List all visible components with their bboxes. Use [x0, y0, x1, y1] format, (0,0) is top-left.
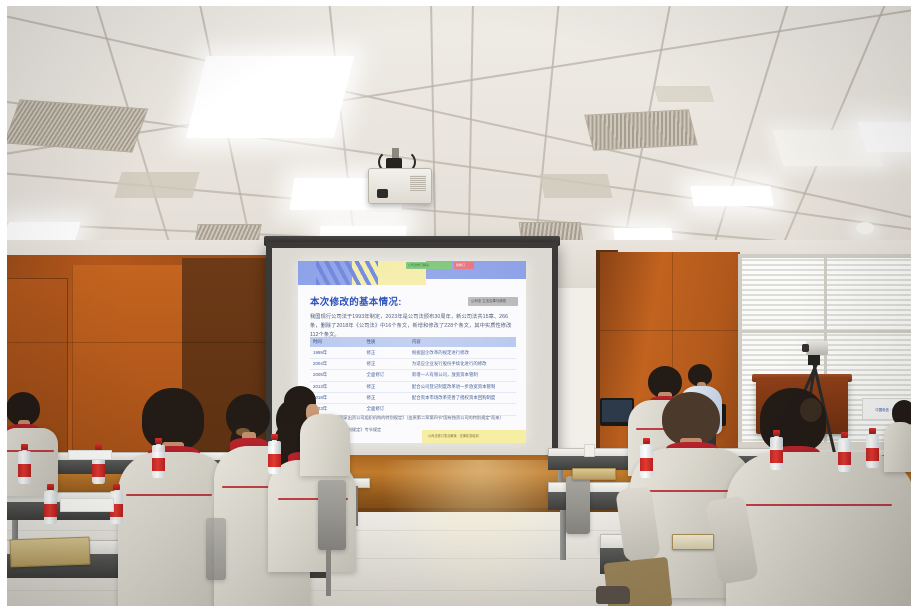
table-cell-time: 1999年 [310, 347, 364, 358]
projector-lens [377, 189, 388, 198]
chair[interactable] [206, 518, 226, 580]
table-cell-nature: 全面修订 [364, 370, 409, 381]
cup [584, 444, 595, 457]
table-row: 2013年 修正 配合公司登记制度改革进一步放宽资本管制 [310, 381, 516, 392]
slide-header-badge: 新修订 [454, 262, 474, 269]
table-cell-nature: 修正 [364, 381, 409, 392]
table-header-cell: 性质 [364, 337, 409, 347]
table-cell-content: 为适应企业发行股份手续化进行的修改 [409, 358, 516, 369]
ceiling-light [857, 122, 916, 152]
slide-corner-badge-label: 公司法·立法沿革与修改 [468, 297, 506, 306]
chair[interactable] [318, 480, 346, 550]
paper-sheet [60, 498, 114, 512]
torso [300, 414, 350, 476]
slide-title: 本次修改的基本情况: [310, 294, 402, 308]
video-camera [806, 341, 828, 355]
slide-header-tab-label: 公司法修订解读 [406, 262, 429, 269]
slide-revision-table: 时间 性质 内容 1999年 修正 根据国企改革的规定进行修改 2004年 修正… [310, 337, 516, 416]
table-header-cell: 时间 [310, 337, 364, 347]
water-bottle [866, 428, 879, 468]
ceiling-panel [654, 86, 715, 102]
notebook [672, 534, 714, 550]
ceiling-panel [539, 174, 612, 198]
slide-corner-badge: 公司法·立法沿革与修改 [468, 297, 518, 306]
water-bottle [268, 434, 281, 474]
slide-header-badge-label: 新修订 [454, 262, 474, 269]
tripod-head [808, 355, 820, 365]
chair[interactable] [566, 476, 590, 534]
slide-header-stripes [316, 261, 378, 285]
page-margin-top [0, 0, 916, 6]
ceiling-light [3, 222, 81, 240]
page-margin-right [911, 0, 916, 613]
paper-sheet [68, 450, 112, 460]
notebook [572, 468, 616, 480]
table-header-row: 时间 性质 内容 [310, 337, 516, 347]
water-bottle [152, 438, 165, 478]
table-cell-time: 2018年 [310, 392, 364, 403]
table-header-cell: 内容 [409, 337, 516, 347]
table-cell-nature: 修正 [364, 392, 409, 403]
projector-vent [410, 175, 426, 191]
camera-lens-icon [802, 344, 809, 352]
slide-body-text: 我国现行公司法于1993年制定，2023年是公司法颁布30周年，新公司法共15章… [310, 313, 516, 340]
ceiling-light [186, 56, 354, 138]
table-cell-nature: 修正 [364, 347, 409, 358]
water-bottle [44, 484, 57, 524]
ceiling-vent [584, 109, 698, 151]
table-cell-content: 配合资本市场改革完善了授权资本回购制度 [409, 392, 516, 403]
ceiling-panel [114, 172, 199, 198]
water-bottle [640, 438, 653, 478]
slide-header-tab: 公司法修订解读 [406, 262, 452, 269]
water-bottle [770, 430, 783, 470]
table-row: 2005年 全面修订 新增一人有限公司，放宽资本管制 [310, 370, 516, 381]
table-cell-content: 新增一人有限公司，放宽资本管制 [409, 370, 516, 381]
table-row: 1999年 修正 根据国企改革的规定进行修改 [310, 347, 516, 358]
ceiling-light [690, 186, 774, 206]
ceiling-projector-icon [368, 168, 432, 204]
page-margin-left [0, 0, 7, 613]
meeting-room-photo: 公司法修订解读 新修订 公司法·立法沿革与修改 本次修改的基本情况: 我国现行公… [0, 0, 916, 613]
slide-footer-label: 公司法修订重点解读 · 法律实务培训 [422, 430, 479, 443]
shoe [596, 586, 630, 604]
water-bottle [838, 432, 851, 472]
table-row: 2018年 修正 配合资本市场改革完善了授权资本回购制度 [310, 392, 516, 403]
ceiling [0, 0, 916, 252]
hair-bun [800, 398, 822, 422]
ceiling-light [613, 228, 672, 240]
water-bottle [18, 444, 31, 484]
table-cell-time: 2004年 [310, 358, 364, 369]
torso [726, 452, 916, 613]
table-cell-nature: 修正 [364, 358, 409, 369]
table-cell-content: 根据国企改革的规定进行修改 [409, 347, 516, 358]
table-row: 2004年 修正 为适应企业发行股份手续化进行的修改 [310, 358, 516, 369]
table-cell-time: 2005年 [310, 370, 364, 381]
ceiling-spotlight [856, 222, 874, 234]
ceiling-vent [4, 99, 149, 152]
slide-footer: 公司法修订重点解读 · 法律实务培训 [422, 430, 526, 443]
table-cell-time: 2013年 [310, 381, 364, 392]
page-margin-bottom [0, 606, 916, 613]
legs [604, 557, 673, 613]
notebook [10, 537, 91, 568]
table-cell-content: 配合公司登记制度改革进一步放宽资本管制 [409, 381, 516, 392]
